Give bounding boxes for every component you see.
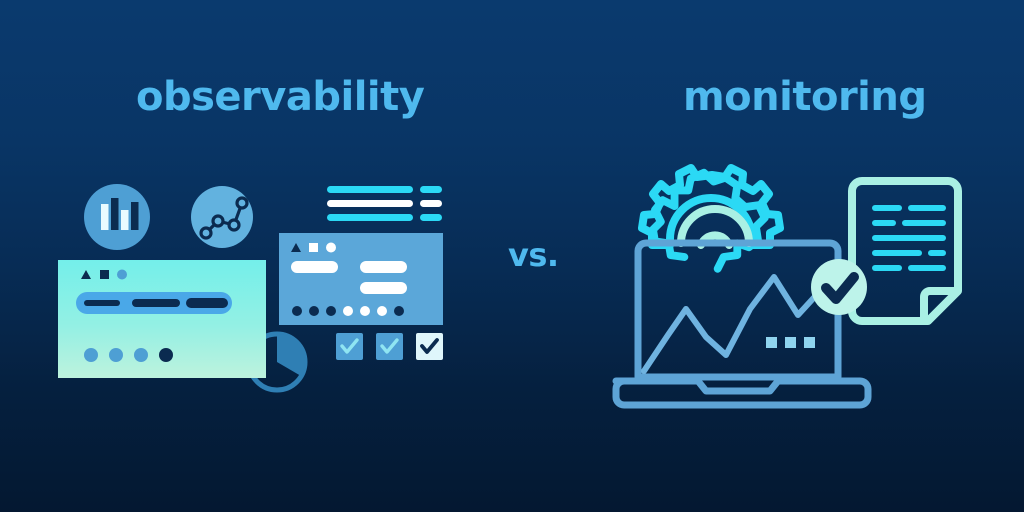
metrics-card bbox=[58, 260, 266, 378]
checkbox-1 bbox=[336, 333, 363, 360]
log-card bbox=[279, 233, 443, 325]
monitoring-illustration bbox=[608, 165, 978, 415]
illustration-canvas: observability monitoring vs. bbox=[0, 0, 1024, 512]
log-list-rows bbox=[327, 186, 442, 221]
bar-chart-badge bbox=[84, 184, 150, 250]
document-icon bbox=[852, 181, 958, 321]
heading-monitoring: monitoring bbox=[683, 74, 927, 120]
checkbox-3 bbox=[416, 333, 443, 360]
checkbox-2 bbox=[376, 333, 403, 360]
checkbox-row bbox=[336, 333, 443, 360]
line-graph-badge bbox=[191, 186, 253, 248]
heading-observability: observability bbox=[136, 74, 424, 120]
vs-separator-label: vs. bbox=[508, 236, 559, 274]
check-badge-icon bbox=[811, 259, 867, 315]
document-text-lines bbox=[872, 205, 946, 271]
observability-illustration bbox=[50, 165, 470, 415]
